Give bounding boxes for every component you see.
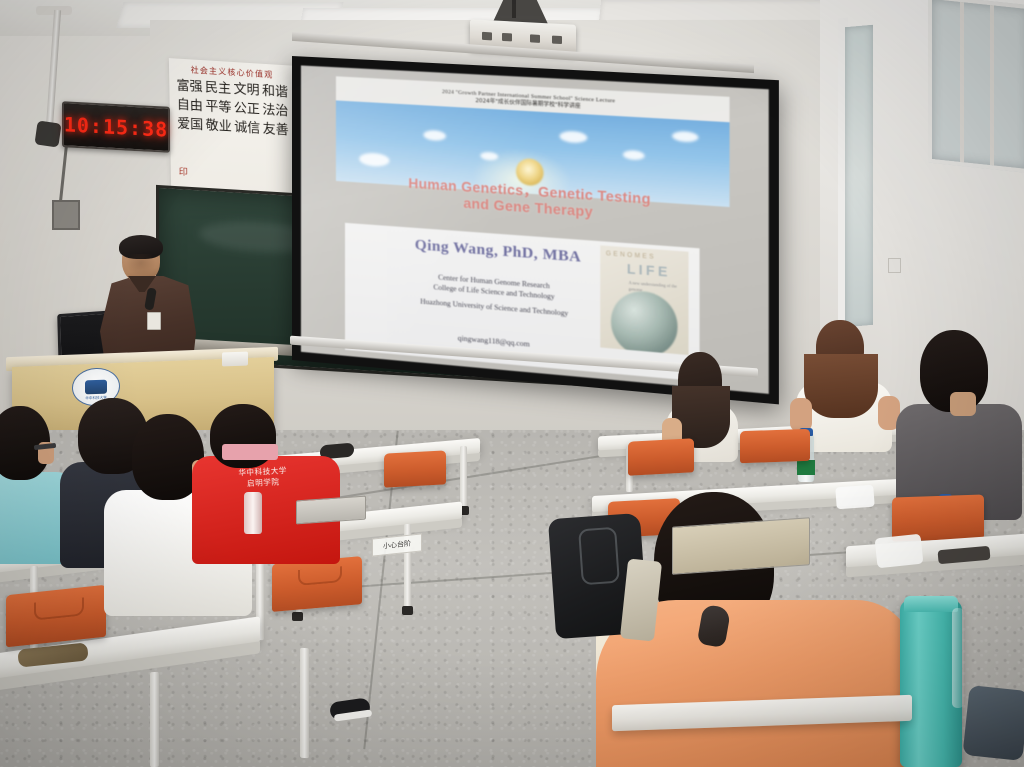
desk-leg bbox=[300, 648, 309, 758]
lecture-hall-photo: 社会主义核心价值观 富强 民主 文明 和谐 自由 平等 公正 法治 爱国 敬业 … bbox=[0, 0, 1024, 767]
cloud-icon bbox=[359, 152, 389, 167]
cloud-icon bbox=[623, 150, 645, 161]
lecturer-face-shadow bbox=[126, 254, 156, 276]
poster-values-grid: 富强 民主 文明 和谐 自由 平等 公正 法治 爱国 敬业 诚信 友善 bbox=[175, 78, 290, 139]
digital-wall-clock: 10:15:38 bbox=[62, 101, 170, 153]
cloud-icon bbox=[559, 131, 587, 144]
podium-paper-cup bbox=[222, 352, 248, 367]
clock-time: 10:15:38 bbox=[64, 112, 168, 141]
student-neck bbox=[950, 392, 976, 416]
student-red-hust-shirt: 华中科技大学 启明学院 bbox=[192, 404, 342, 564]
thermos-cap bbox=[904, 596, 958, 612]
cloud-icon bbox=[423, 130, 446, 142]
poster-value: 诚信 bbox=[233, 120, 262, 138]
poster-value: 公正 bbox=[233, 101, 262, 119]
window bbox=[928, 0, 1024, 173]
book-cover-image: GENOMES LIFE A new understanding of the … bbox=[601, 246, 689, 356]
chair[interactable] bbox=[628, 438, 694, 475]
backpack-pocket bbox=[578, 527, 620, 586]
poster-value: 和谐 bbox=[261, 84, 290, 102]
poster-value: 平等 bbox=[204, 99, 233, 117]
wall-speaker-box bbox=[52, 200, 80, 230]
desk-foot bbox=[292, 612, 303, 621]
window-mullion bbox=[990, 5, 994, 165]
desk-leg bbox=[150, 672, 159, 767]
projector-vent bbox=[552, 36, 562, 45]
poster-value: 民主 bbox=[204, 80, 233, 98]
student-shoulder-skin bbox=[790, 398, 812, 432]
projector-cable bbox=[512, 0, 516, 18]
window-mullion bbox=[960, 2, 964, 162]
student-gray-shirt bbox=[896, 330, 1024, 520]
bottle-label bbox=[797, 460, 815, 475]
emblem-inner-shape bbox=[85, 380, 107, 395]
projector-vent bbox=[482, 32, 492, 41]
poster-value: 敬业 bbox=[204, 118, 233, 136]
shirt-text-line1: 华中科技大学 bbox=[238, 466, 287, 478]
door-glass-panel bbox=[845, 25, 873, 327]
shirt-text-line2: 启明学院 bbox=[247, 477, 280, 488]
core-values-poster: 社会主义核心价值观 富强 民主 文明 和谐 自由 平等 公正 法治 爱国 敬业 … bbox=[169, 58, 297, 198]
laptop[interactable] bbox=[672, 517, 810, 575]
poster-value: 爱国 bbox=[176, 116, 205, 134]
chair[interactable] bbox=[740, 429, 810, 463]
globe-icon bbox=[611, 289, 678, 355]
projector-vent bbox=[530, 34, 540, 43]
poster-seal: 印 bbox=[179, 165, 197, 182]
lecturer bbox=[100, 238, 200, 364]
book-main-word: LIFE bbox=[627, 261, 671, 280]
student-long-hair bbox=[804, 354, 878, 418]
folded-jacket bbox=[963, 685, 1024, 761]
desk-foot bbox=[402, 606, 413, 615]
poster-value: 自由 bbox=[176, 97, 205, 115]
chair[interactable] bbox=[384, 450, 446, 487]
light-switch[interactable] bbox=[888, 258, 901, 273]
poster-value: 富强 bbox=[175, 78, 204, 96]
poster-value: 法治 bbox=[261, 103, 290, 121]
cloud-icon bbox=[672, 131, 698, 143]
thermos-highlight bbox=[952, 608, 964, 708]
poster-value: 文明 bbox=[232, 82, 261, 100]
tissue-pack bbox=[835, 485, 874, 510]
water-bottle[interactable] bbox=[244, 492, 262, 534]
camera-icon bbox=[34, 120, 61, 147]
projector-vent bbox=[502, 33, 512, 42]
student-collar bbox=[222, 444, 278, 460]
lecturer-badge bbox=[147, 312, 161, 330]
laptop[interactable] bbox=[296, 496, 366, 525]
poster-value: 友善 bbox=[261, 122, 290, 140]
tissue-pack bbox=[875, 534, 924, 569]
desk-leg bbox=[460, 446, 467, 508]
